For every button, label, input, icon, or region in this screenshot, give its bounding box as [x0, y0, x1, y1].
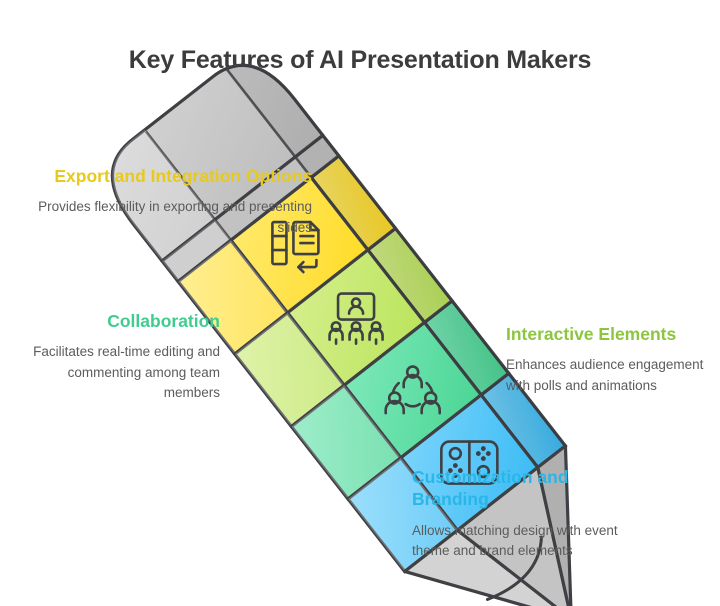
infographic-canvas: Key Features of AI Presentation Makers	[0, 0, 720, 606]
callout-interactive-body: Enhances audience engagement with polls …	[506, 355, 720, 396]
callout-export: Export and Integration Options Provides …	[16, 165, 312, 238]
callout-customization-body: Allows matching design with event theme …	[412, 521, 628, 562]
callout-collaboration: Collaboration Facilitates real-time edit…	[8, 310, 220, 403]
callout-export-body: Provides flexibility in exporting and pr…	[16, 197, 312, 238]
callout-customization-title: Customization and Branding	[412, 466, 628, 511]
callout-export-title: Export and Integration Options	[16, 165, 312, 187]
callout-interactive-title: Interactive Elements	[506, 323, 720, 345]
callout-interactive: Interactive Elements Enhances audience e…	[506, 323, 720, 396]
callout-collaboration-body: Facilitates real-time editing and commen…	[8, 342, 220, 403]
callout-customization: Customization and Branding Allows matchi…	[412, 466, 628, 561]
callout-collaboration-title: Collaboration	[8, 310, 220, 332]
